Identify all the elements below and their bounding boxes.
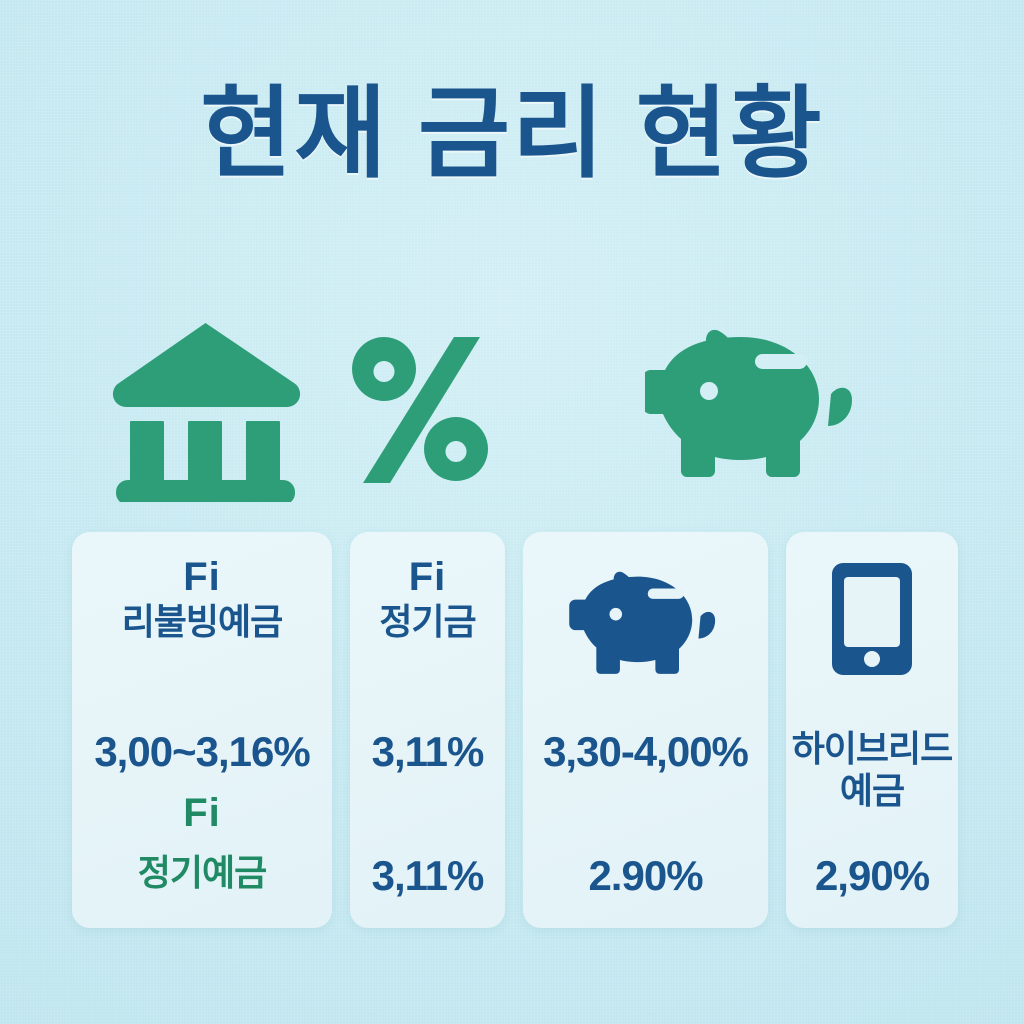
card1-rate: 3,00~3,16% xyxy=(72,728,332,776)
card3-rate-row: 3,30-4,00% xyxy=(523,728,768,776)
rate-card-revolving-deposit[interactable]: Fi 리불빙예금 3,00~3,16% Fi 정기예금 xyxy=(72,532,332,928)
card3-sub-rate: 2.90% xyxy=(523,852,768,900)
card4-sub-rate-row: 2,90% xyxy=(786,852,958,900)
percent-icon xyxy=(350,335,490,485)
rate-card-hybrid-deposit[interactable]: 하이브리드 예금 2,90% xyxy=(786,532,958,928)
mobile-phone-icon xyxy=(829,560,915,678)
card3-rate: 3,30-4,00% xyxy=(523,728,768,776)
card1-sub-brand-row: Fi xyxy=(72,790,332,837)
card1-product: 리불빙예금 xyxy=(72,601,332,643)
card1-sub-product-row: 정기예금 xyxy=(72,852,332,894)
card2-rate-row: 3,11% xyxy=(350,728,505,776)
page-title: 현재 금리 현황 xyxy=(0,82,1024,187)
card4-product-line1: 하이브리드 xyxy=(786,728,958,770)
card1-rate-row: 3,00~3,16% xyxy=(72,728,332,776)
rate-card-term-deposit[interactable]: Fi 정기금 3,11% 3,11% xyxy=(350,532,505,928)
card2-sub-rate-row: 3,11% xyxy=(350,852,505,900)
card1-sub-product: 정기예금 xyxy=(72,852,332,894)
card1-sub-brand: Fi xyxy=(72,790,332,837)
card4-sub-rate: 2,90% xyxy=(786,852,958,900)
card3-icon-slot xyxy=(523,560,768,692)
rate-card-savings[interactable]: 3,30-4,00% 2.90% xyxy=(523,532,768,928)
piggy-bank-icon xyxy=(562,560,730,692)
bank-icon xyxy=(108,317,303,502)
card4-icon-slot xyxy=(786,560,958,678)
card1-heading: Fi 리불빙예금 xyxy=(72,554,332,644)
card2-brand: Fi xyxy=(350,554,505,601)
hero-icon-row xyxy=(0,305,1024,515)
card2-product: 정기금 xyxy=(350,601,505,643)
card3-sub-rate-row: 2.90% xyxy=(523,852,768,900)
card2-rate: 3,11% xyxy=(350,728,505,776)
card4-product-line2: 예금 xyxy=(786,770,958,812)
rate-card-strip: Fi 리불빙예금 3,00~3,16% Fi 정기예금 Fi 정기금 3,11% xyxy=(72,532,960,928)
card2-heading: Fi 정기금 xyxy=(350,554,505,644)
infographic-root: 현재 금리 현황 xyxy=(0,0,1024,1024)
card2-sub-rate: 3,11% xyxy=(350,852,505,900)
piggy-bank-icon xyxy=(645,313,860,503)
card1-brand: Fi xyxy=(72,554,332,601)
card4-product-row: 하이브리드 예금 xyxy=(786,728,958,813)
